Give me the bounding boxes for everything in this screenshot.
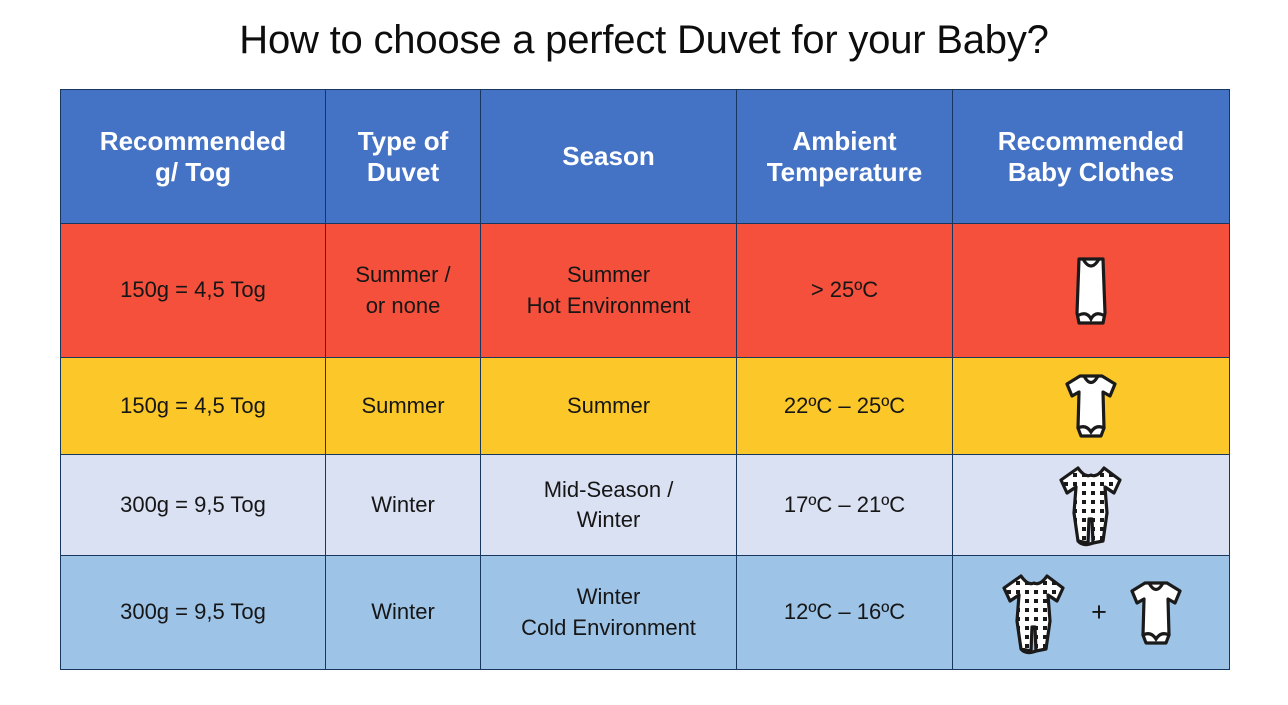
cell-baby-clothes: + bbox=[953, 556, 1230, 670]
cell-line: or none bbox=[326, 291, 480, 321]
column-header-type-of-duvet: Type of Duvet bbox=[326, 90, 481, 224]
cell-baby-clothes bbox=[953, 455, 1230, 556]
cell-duvet-type: Winter bbox=[326, 556, 481, 670]
table-row: 150g = 4,5 Tog Summer / or none Summer H… bbox=[61, 224, 1230, 358]
header-line: Ambient bbox=[737, 126, 952, 157]
cell-line: Summer bbox=[481, 260, 736, 290]
plus-separator: + bbox=[1087, 599, 1111, 626]
table-row: 300g = 9,5 Tog Winter Mid-Season / Winte… bbox=[61, 455, 1230, 556]
header-line: Duvet bbox=[326, 157, 480, 188]
cell-temperature: 17ºC – 21ºC bbox=[737, 455, 953, 556]
column-header-recommended-tog: Recommended g/ Tog bbox=[61, 90, 326, 224]
cell-temperature: 12ºC – 16ºC bbox=[737, 556, 953, 670]
table-row: 300g = 9,5 Tog Winter Winter Cold Enviro… bbox=[61, 556, 1230, 670]
cell-tog: 300g = 9,5 Tog bbox=[61, 455, 326, 556]
cell-season: Mid-Season / Winter bbox=[481, 455, 737, 556]
page-title: How to choose a perfect Duvet for your B… bbox=[0, 18, 1288, 63]
cell-tog: 300g = 9,5 Tog bbox=[61, 556, 326, 670]
slide-canvas: How to choose a perfect Duvet for your B… bbox=[0, 0, 1288, 705]
column-header-ambient-temperature: Ambient Temperature bbox=[737, 90, 953, 224]
cell-line: Hot Environment bbox=[481, 291, 736, 321]
cell-tog: 150g = 4,5 Tog bbox=[61, 224, 326, 358]
header-line: Temperature bbox=[737, 157, 952, 188]
sleeveless-bodysuit-icon bbox=[1065, 253, 1117, 329]
header-line: Recommended bbox=[953, 126, 1229, 157]
header-line: Baby Clothes bbox=[953, 157, 1229, 188]
table-row: 150g = 4,5 Tog Summer Summer 22ºC – 25ºC bbox=[61, 358, 1230, 455]
cell-line: Winter bbox=[326, 597, 480, 627]
dotted-footed-sleepsuit-icon bbox=[995, 569, 1073, 657]
cell-season: Summer bbox=[481, 358, 737, 455]
cell-duvet-type: Winter bbox=[326, 455, 481, 556]
dotted-footed-sleepsuit-icon bbox=[1052, 461, 1130, 549]
cell-line: Summer / bbox=[326, 260, 480, 290]
column-header-recommended-baby-clothes: Recommended Baby Clothes bbox=[953, 90, 1230, 224]
cell-duvet-type: Summer / or none bbox=[326, 224, 481, 358]
cell-line: Summer bbox=[481, 391, 736, 421]
short-sleeve-bodysuit-icon bbox=[1060, 370, 1122, 442]
column-header-season: Season bbox=[481, 90, 737, 224]
cell-line: Winter bbox=[481, 582, 736, 612]
cell-temperature: > 25ºC bbox=[737, 224, 953, 358]
cell-temperature: 22ºC – 25ºC bbox=[737, 358, 953, 455]
cell-line: Cold Environment bbox=[481, 613, 736, 643]
cell-line: Winter bbox=[481, 505, 736, 535]
table-header-row: Recommended g/ Tog Type of Duvet Season … bbox=[61, 90, 1230, 224]
cell-line: Summer bbox=[326, 391, 480, 421]
cell-baby-clothes bbox=[953, 358, 1230, 455]
cell-season: Summer Hot Environment bbox=[481, 224, 737, 358]
cell-tog: 150g = 4,5 Tog bbox=[61, 358, 326, 455]
header-line: Season bbox=[481, 141, 736, 172]
header-line: Recommended bbox=[61, 126, 325, 157]
cell-line: Mid-Season / bbox=[481, 475, 736, 505]
cell-baby-clothes bbox=[953, 224, 1230, 358]
short-sleeve-bodysuit-icon bbox=[1125, 577, 1187, 649]
cell-line: Winter bbox=[326, 490, 480, 520]
header-line: Type of bbox=[326, 126, 480, 157]
cell-season: Winter Cold Environment bbox=[481, 556, 737, 670]
header-line: g/ Tog bbox=[61, 157, 325, 188]
cell-duvet-type: Summer bbox=[326, 358, 481, 455]
duvet-guide-table: Recommended g/ Tog Type of Duvet Season … bbox=[60, 89, 1230, 670]
